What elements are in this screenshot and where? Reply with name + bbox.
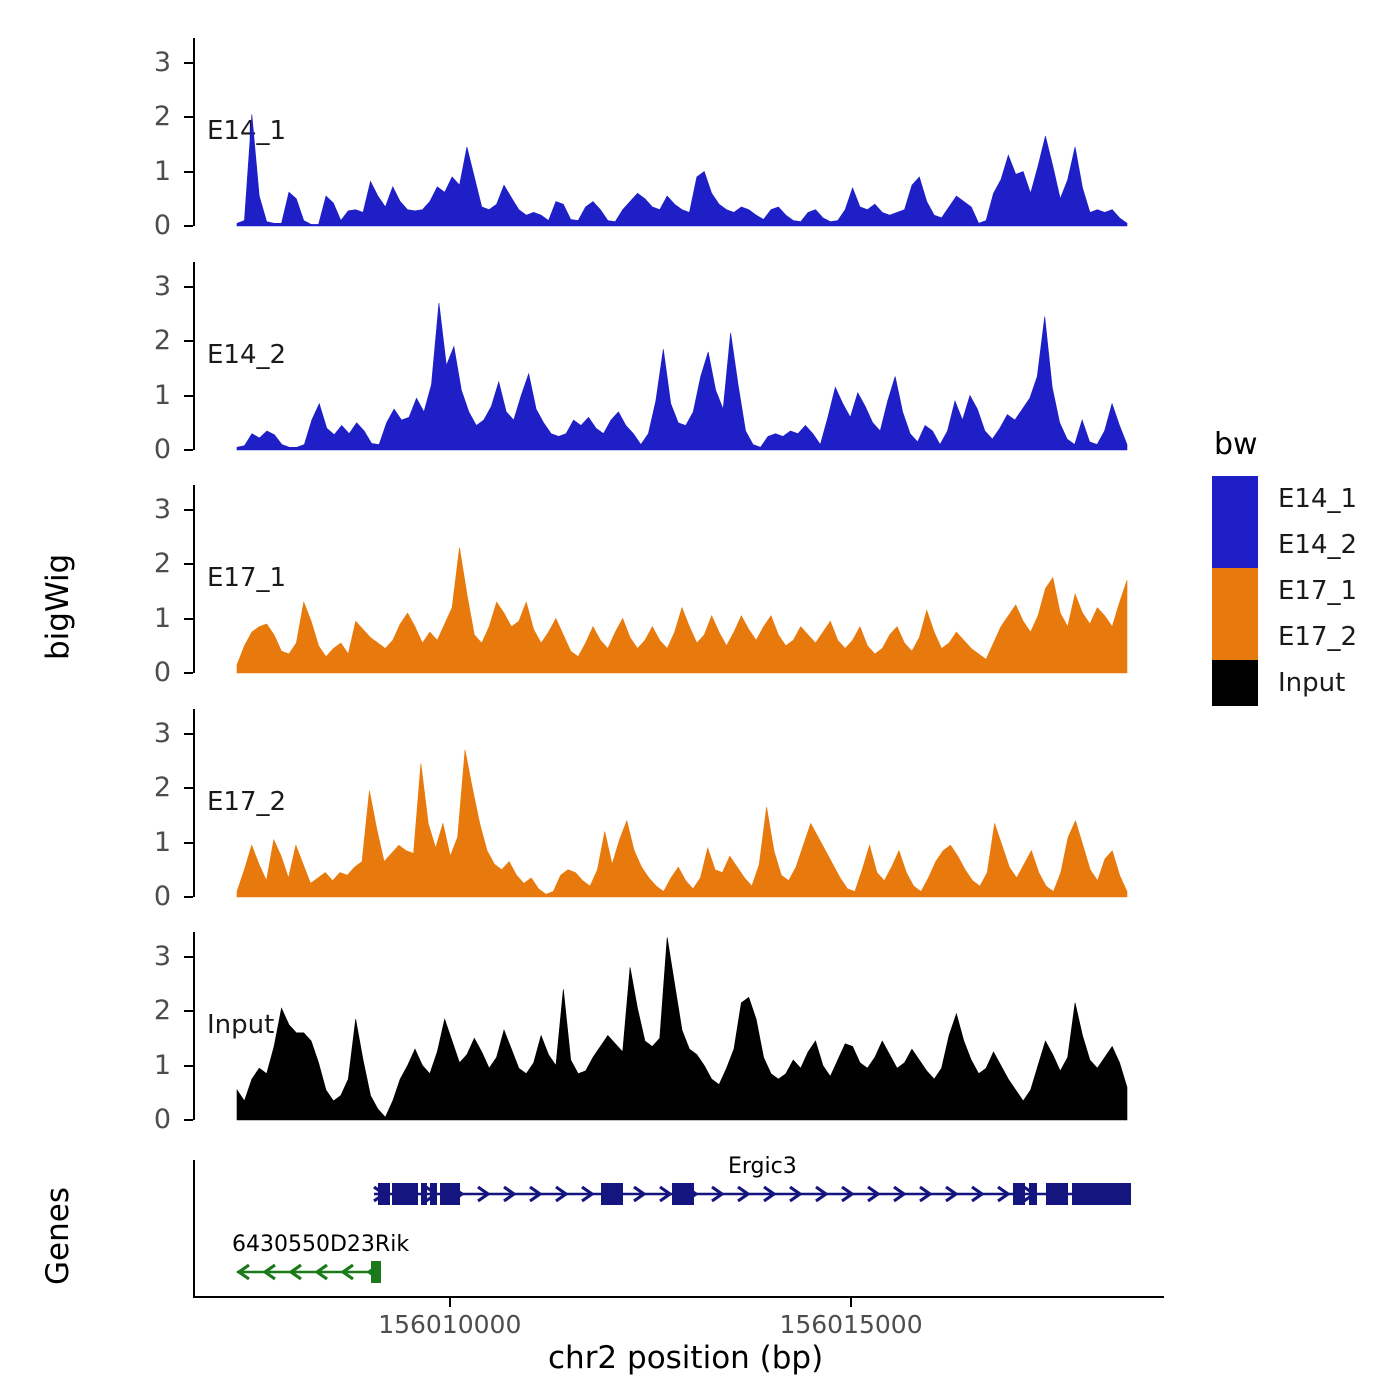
x-axis-tick	[850, 1298, 852, 1307]
legend-item-e17_1[interactable]: E17_1	[1212, 568, 1357, 614]
legend-item-label: E14_2	[1278, 532, 1357, 558]
figure-canvas: bigWig Genes 0123E14_10123E14_20123E17_1…	[0, 0, 1400, 1400]
legend-color-swatch	[1212, 476, 1258, 522]
legend-item-input[interactable]: Input	[1212, 660, 1357, 706]
legend-color-swatch	[1212, 614, 1258, 660]
legend-item-e17_2[interactable]: E17_2	[1212, 614, 1357, 660]
legend-color-swatch	[1212, 660, 1258, 706]
legend-color-swatch	[1212, 522, 1258, 568]
x-axis-line	[193, 1296, 1164, 1298]
gene-models	[0, 1150, 1200, 1310]
signal-track-input	[0, 0, 1200, 1124]
x-axis-tick-label: 156010000	[330, 1312, 570, 1337]
legend-item-e14_2[interactable]: E14_2	[1212, 522, 1357, 568]
legend-item-label: E17_2	[1278, 624, 1357, 650]
legend-title: bw	[1214, 430, 1357, 460]
legend-item-label: E14_1	[1278, 486, 1357, 512]
legend: bw E14_1E14_2E17_1E17_2Input	[1212, 430, 1357, 706]
legend-item-e14_1[interactable]: E14_1	[1212, 476, 1357, 522]
legend-items: E14_1E14_2E17_1E17_2Input	[1212, 476, 1357, 706]
genes-panel: Ergic36430550D23Rik	[0, 1150, 1200, 1310]
gene-label-6430550d23rik: 6430550D23Rik	[232, 1234, 409, 1256]
legend-color-swatch	[1212, 568, 1258, 614]
x-axis-tick	[449, 1298, 451, 1307]
legend-item-label: E17_1	[1278, 578, 1357, 604]
x-axis-title: chr2 position (bp)	[548, 1340, 823, 1376]
gene-label-ergic3: Ergic3	[728, 1156, 797, 1178]
x-axis-tick-label: 156015000	[731, 1312, 971, 1337]
legend-item-label: Input	[1278, 670, 1345, 696]
